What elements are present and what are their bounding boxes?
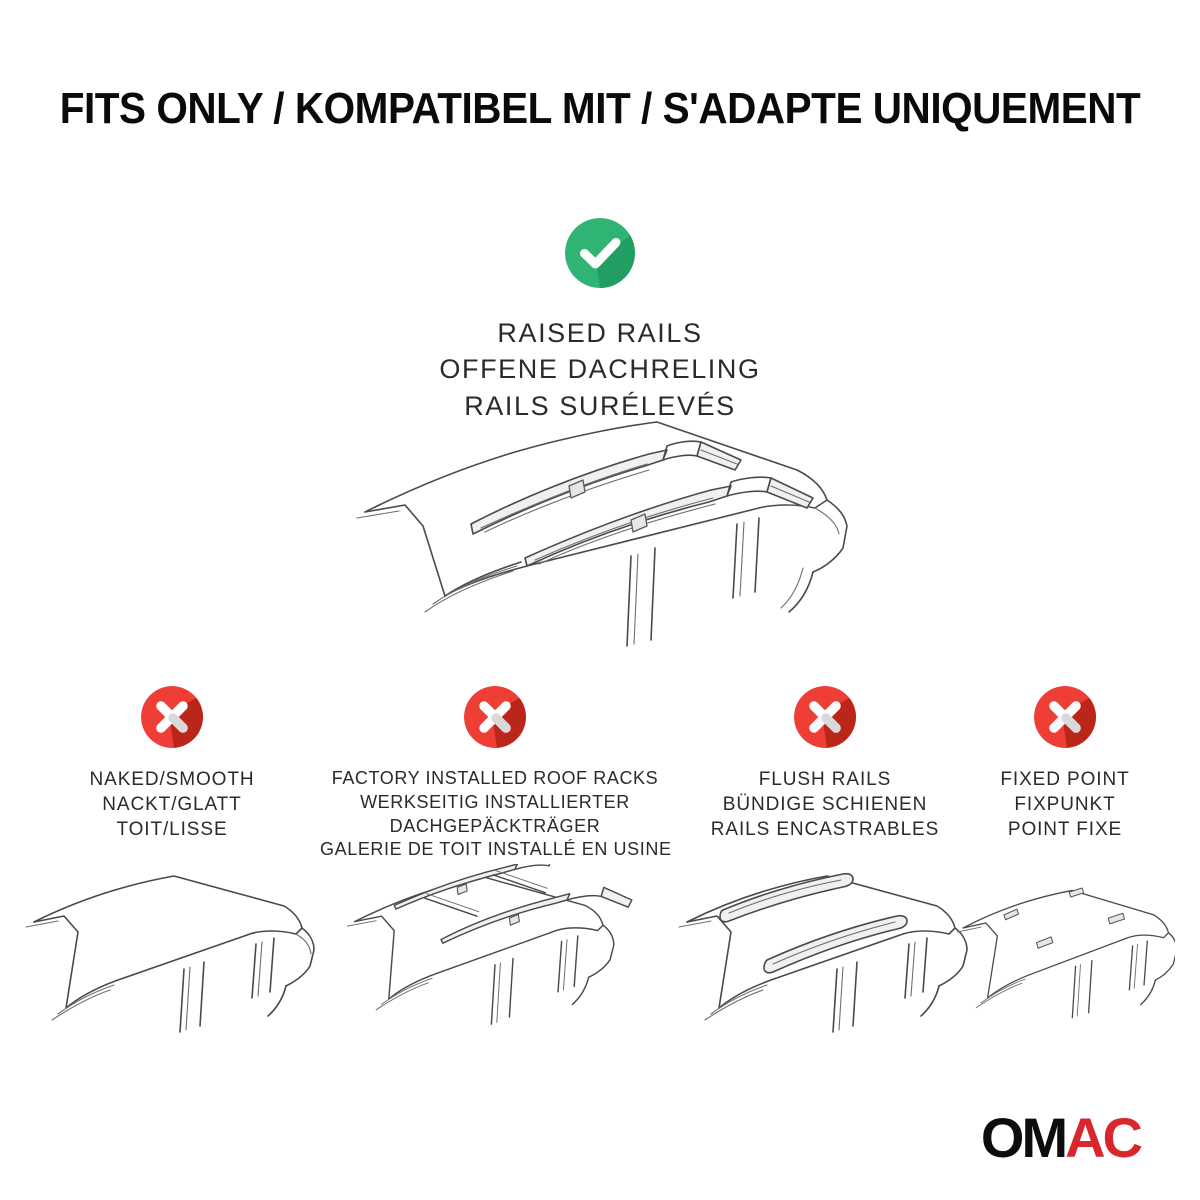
incompatible-label-en: FIXED POINT xyxy=(955,767,1175,792)
approved-fitment-block: RAISED RAILS OFFENE DACHRELING RAILS SUR… xyxy=(0,218,1200,424)
incompatible-label-stack: FLUSH RAILS BÜNDIGE SCHIENEN RAILS ENCAS… xyxy=(665,767,985,842)
incompatible-fitments-row: NAKED/SMOOTH NACKT/GLATT TOIT/LISSE xyxy=(0,686,1200,1106)
incompatible-label-fr: GALERIE DE TOIT INSTALLÉ EN USINE xyxy=(320,838,670,862)
incompatible-label-stack: NAKED/SMOOTH NACKT/GLATT TOIT/LISSE xyxy=(22,767,322,842)
incompatible-label-en: FACTORY INSTALLED ROOF RACKS xyxy=(320,767,670,791)
header: FITS ONLY / KOMPATIBEL MIT / S'ADAPTE UN… xyxy=(0,84,1200,134)
incompatible-label-de: FIXPUNKT xyxy=(955,792,1175,817)
approved-label-de: OFFENE DACHRELING xyxy=(0,351,1200,387)
page-title: FITS ONLY / KOMPATIBEL MIT / S'ADAPTE UN… xyxy=(48,84,1152,134)
incompatible-label-de-2: DACHGEPÄCKTRÄGER xyxy=(320,815,670,839)
incompatible-label-de-1: WERKSEITIG INSTALLIERTER xyxy=(320,791,670,815)
approved-label-en: RAISED RAILS xyxy=(0,315,1200,351)
brand-logo-accent: AC xyxy=(1065,1106,1140,1169)
incompatible-label-en: NAKED/SMOOTH xyxy=(22,767,322,792)
brand-logo: OMAC xyxy=(981,1110,1140,1166)
incompatible-label-fr: RAILS ENCASTRABLES xyxy=(665,817,985,842)
incompatible-label-de: BÜNDIGE SCHIENEN xyxy=(665,792,985,817)
compatibility-infographic: FITS ONLY / KOMPATIBEL MIT / S'ADAPTE UN… xyxy=(0,0,1200,1200)
car-roof-flush-rails-illustration xyxy=(665,864,985,1044)
incompatible-label-de: NACKT/GLATT xyxy=(22,792,322,817)
incompatible-label-fr: TOIT/LISSE xyxy=(22,817,322,842)
incompatible-label-stack: FIXED POINT FIXPUNKT POINT FIXE xyxy=(955,767,1175,842)
car-roof-raised-rails-illustration xyxy=(345,408,865,668)
incompatible-item-factory-racks: FACTORY INSTALLED ROOF RACKS WERKSEITIG … xyxy=(320,686,670,1044)
car-roof-naked-smooth-illustration xyxy=(22,864,322,1044)
car-roof-factory-racks-illustration xyxy=(320,864,670,1044)
x-circle-icon xyxy=(141,686,203,748)
x-circle-icon xyxy=(794,686,856,748)
incompatible-item-fixed-point: FIXED POINT FIXPUNKT POINT FIXE xyxy=(955,686,1175,1044)
incompatible-label-en: FLUSH RAILS xyxy=(665,767,985,792)
incompatible-item-flush-rails: FLUSH RAILS BÜNDIGE SCHIENEN RAILS ENCAS… xyxy=(665,686,985,1044)
x-circle-icon xyxy=(464,686,526,748)
incompatible-item-naked-smooth: NAKED/SMOOTH NACKT/GLATT TOIT/LISSE xyxy=(22,686,322,1044)
car-roof-fixed-point-illustration xyxy=(955,864,1175,1044)
incompatible-label-stack: FACTORY INSTALLED ROOF RACKS WERKSEITIG … xyxy=(320,767,670,862)
check-circle-icon xyxy=(565,218,635,288)
x-circle-icon xyxy=(1034,686,1096,748)
brand-logo-dark: OM xyxy=(981,1106,1065,1169)
incompatible-label-fr: POINT FIXE xyxy=(955,817,1175,842)
